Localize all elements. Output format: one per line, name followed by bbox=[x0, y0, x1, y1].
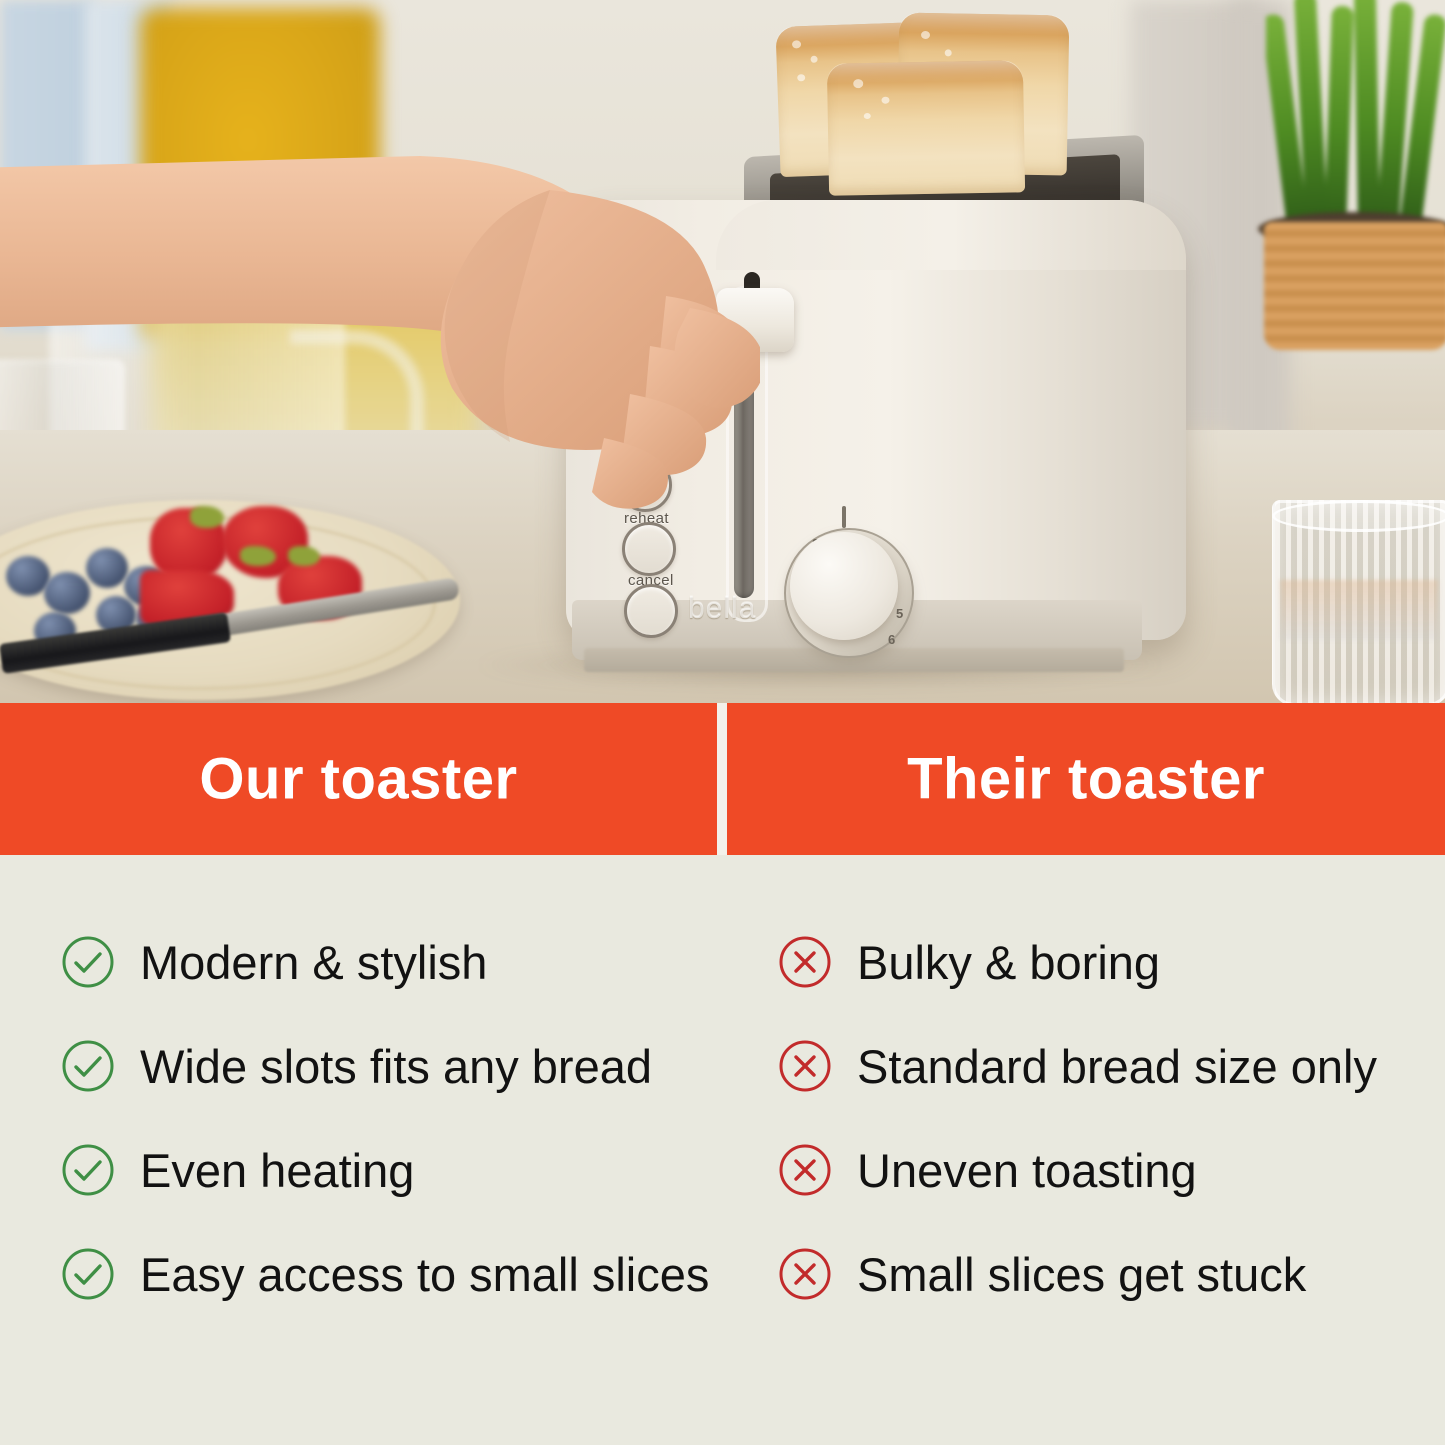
list-item-label: Modern & stylish bbox=[140, 939, 487, 986]
plant-pot bbox=[1264, 222, 1445, 350]
dial-number: 5 bbox=[896, 606, 903, 621]
our-toaster-header: Our toaster bbox=[0, 703, 717, 855]
product-photo: defrost reheat cancel bella 2 3 4 5 6 bbox=[0, 0, 1445, 703]
list-item: Uneven toasting bbox=[777, 1139, 1197, 1201]
check-circle-icon bbox=[60, 934, 116, 990]
hand bbox=[0, 120, 760, 560]
list-divider bbox=[717, 855, 727, 1445]
their-toaster-heading: Their toaster bbox=[727, 746, 1445, 813]
dial-number: 6 bbox=[888, 632, 895, 647]
list-item: Small slices get stuck bbox=[777, 1243, 1306, 1305]
comparison-lists: Modern & stylish Wide slots fits any bre… bbox=[0, 855, 1445, 1445]
blueberry bbox=[44, 572, 90, 614]
our-toaster-heading: Our toaster bbox=[0, 746, 717, 813]
ribbed-glass-rim bbox=[1272, 500, 1445, 532]
ribbed-glass-water bbox=[1280, 580, 1438, 640]
extra-button[interactable] bbox=[624, 584, 678, 638]
list-item-label: Uneven toasting bbox=[857, 1147, 1197, 1194]
list-item-label: Wide slots fits any bread bbox=[140, 1043, 652, 1090]
x-circle-icon bbox=[777, 934, 833, 990]
list-item: Wide slots fits any bread bbox=[60, 1035, 652, 1097]
check-circle-icon bbox=[60, 1038, 116, 1094]
list-item-label: Easy access to small slices bbox=[140, 1251, 709, 1298]
list-item: Bulky & boring bbox=[777, 931, 1160, 993]
x-circle-icon bbox=[777, 1142, 833, 1198]
our-toaster-list: Modern & stylish Wide slots fits any bre… bbox=[0, 855, 717, 1445]
their-toaster-list: Bulky & boring Standard bread size only bbox=[727, 855, 1445, 1445]
list-item: Easy access to small slices bbox=[60, 1243, 709, 1305]
list-item: Modern & stylish bbox=[60, 931, 487, 993]
list-item: Standard bread size only bbox=[777, 1035, 1377, 1097]
dial-pointer-mark bbox=[842, 506, 846, 528]
their-toaster-header: Their toaster bbox=[727, 703, 1445, 855]
brand-logo: bella bbox=[688, 592, 756, 626]
list-item-label: Small slices get stuck bbox=[857, 1251, 1306, 1298]
list-item-label: Bulky & boring bbox=[857, 939, 1160, 986]
check-circle-icon bbox=[60, 1142, 116, 1198]
x-circle-icon bbox=[777, 1246, 833, 1302]
x-circle-icon bbox=[777, 1038, 833, 1094]
toast-slice bbox=[827, 60, 1025, 195]
list-item: Even heating bbox=[60, 1139, 414, 1201]
browning-dial[interactable] bbox=[790, 532, 898, 640]
header-divider bbox=[717, 703, 727, 855]
check-circle-icon bbox=[60, 1246, 116, 1302]
list-item-label: Even heating bbox=[140, 1147, 414, 1194]
comparison-infographic: defrost reheat cancel bella 2 3 4 5 6 bbox=[0, 0, 1445, 1445]
list-item-label: Standard bread size only bbox=[857, 1043, 1377, 1090]
toaster-body-top bbox=[716, 200, 1186, 270]
potted-plant bbox=[1266, 0, 1445, 230]
